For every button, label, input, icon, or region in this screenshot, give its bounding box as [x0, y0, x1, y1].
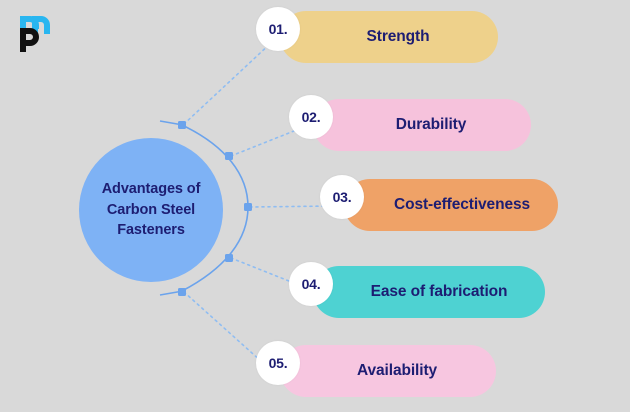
item-number-2: 02. [302, 109, 321, 125]
item-pill-1[interactable]: Strength [280, 11, 498, 63]
list-item[interactable]: Ease of fabrication 04. [313, 266, 545, 318]
item-label-3: Cost-effectiveness [372, 196, 530, 214]
item-number-5: 05. [269, 355, 288, 371]
item-number-1: 01. [269, 21, 288, 37]
list-item[interactable]: Availability 05. [280, 345, 496, 397]
item-pill-2[interactable]: Durability [313, 99, 531, 151]
list-item[interactable]: Cost-effectiveness 03. [344, 179, 558, 231]
item-pill-5[interactable]: Availability [280, 345, 496, 397]
item-label-5: Availability [339, 362, 437, 380]
item-number-badge-5: 05. [256, 341, 300, 385]
center-node: Advantages of Carbon Steel Fasteners [79, 138, 223, 282]
item-label-2: Durability [378, 116, 466, 134]
item-number-4: 04. [302, 276, 321, 292]
item-label-4: Ease of fabrication [351, 283, 508, 301]
item-pill-4[interactable]: Ease of fabrication [313, 266, 545, 318]
item-number-badge-1: 01. [256, 7, 300, 51]
item-number-3: 03. [333, 189, 352, 205]
list-item[interactable]: Strength 01. [280, 11, 498, 63]
item-number-badge-3: 03. [320, 175, 364, 219]
list-item[interactable]: Durability 02. [313, 99, 531, 151]
item-number-badge-2: 02. [289, 95, 333, 139]
item-number-badge-4: 04. [289, 262, 333, 306]
center-node-label: Advantages of Carbon Steel Fasteners [96, 179, 207, 241]
item-label-1: Strength [349, 28, 430, 46]
diagram-canvas: Advantages of Carbon Steel Fasteners Str… [0, 0, 630, 412]
item-pill-3[interactable]: Cost-effectiveness [344, 179, 558, 231]
